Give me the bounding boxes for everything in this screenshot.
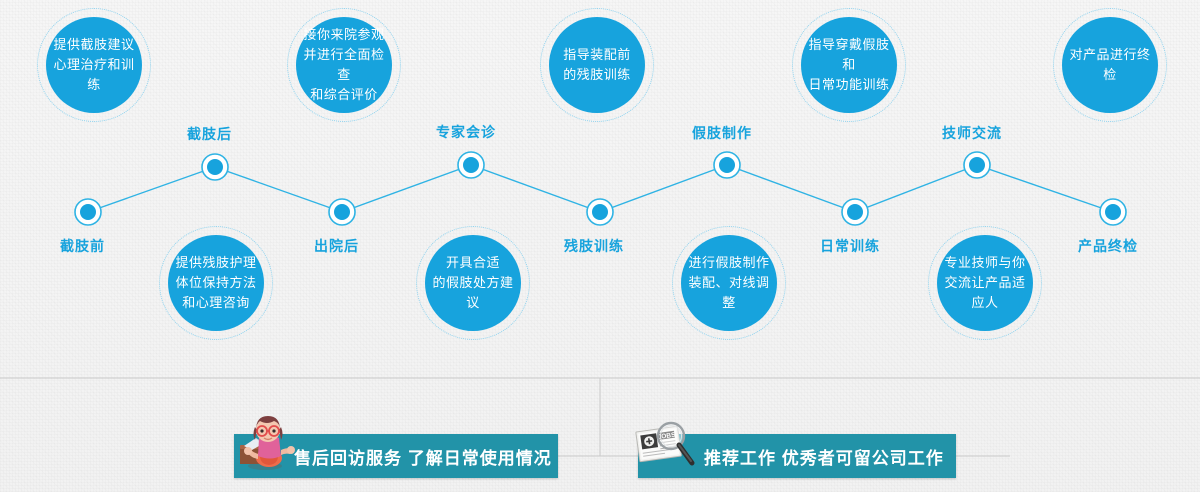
bubble-2[interactable]: 接你来院参观 并进行全面检查 和综合评价 [296, 17, 392, 113]
banner-after-sales-label: 售后回访服务 了解日常使用情况 [294, 444, 552, 469]
timeline-segment-7 [855, 165, 977, 212]
bubble-6[interactable]: 提供残肢护理 体位保持方法 和心理咨询 [168, 235, 264, 331]
timeline-node-8[interactable] [964, 152, 990, 178]
bubble-3-text: 指导装配前 的残肢训练 [557, 45, 637, 85]
node-label-node-7: 日常训练 [820, 236, 880, 256]
node-dot [1105, 204, 1121, 220]
timeline-node-6[interactable] [714, 152, 740, 178]
bubble-5[interactable]: 对产品进行终检 [1062, 17, 1158, 113]
node-dot [463, 157, 479, 173]
timeline-node-markers [75, 152, 1126, 225]
bubble-3[interactable]: 指导装配前 的残肢训练 [549, 17, 645, 113]
node-label-node-2: 截肢后 [187, 124, 232, 144]
node-dot [719, 157, 735, 173]
node-label-node-3: 出院后 [314, 236, 359, 256]
node-label-node-1: 截肢前 [60, 236, 105, 256]
timeline-segment-5 [600, 165, 727, 212]
timeline-node-1[interactable] [75, 199, 101, 225]
bubble-9-text: 专业技师与你 交流让产品适应人 [937, 253, 1033, 313]
bubble-8-text: 进行假肢制作 装配、对线调整 [681, 253, 777, 313]
bubble-1[interactable]: 提供截肢建议 心理治疗和训练 [46, 17, 142, 113]
node-label-node-8: 技师交流 [942, 123, 1002, 143]
node-label-node-4: 专家会诊 [436, 122, 496, 142]
jobs-newspaper-magnifier-icon: JOBS [634, 416, 698, 477]
bubble-4-text: 指导穿戴假肢和 日常功能训练 [801, 35, 897, 95]
node-dot [207, 159, 223, 175]
bubble-9[interactable]: 专业技师与你 交流让产品适应人 [937, 235, 1033, 331]
bubble-1-text: 提供截肢建议 心理治疗和训练 [46, 35, 142, 95]
timeline-segment-2 [215, 167, 342, 212]
timeline-node-2[interactable] [202, 154, 228, 180]
timeline-segment-4 [471, 165, 600, 212]
node-dot [847, 204, 863, 220]
bubble-4[interactable]: 指导穿戴假肢和 日常功能训练 [801, 17, 897, 113]
bubble-2-text: 接你来院参观 并进行全面检查 和综合评价 [296, 25, 392, 105]
timeline-node-9[interactable] [1100, 199, 1126, 225]
timeline-segment-1 [88, 167, 215, 212]
node-dot [80, 204, 96, 220]
node-label-node-5: 残肢训练 [564, 236, 624, 256]
woman-at-desk-icon [236, 410, 298, 477]
divider-lines [0, 378, 1200, 456]
timeline-node-4[interactable] [458, 152, 484, 178]
node-dot [592, 204, 608, 220]
bubble-8[interactable]: 进行假肢制作 装配、对线调整 [681, 235, 777, 331]
timeline-node-5[interactable] [587, 199, 613, 225]
banner-job-referral-label: 推荐工作 优秀者可留公司工作 [704, 444, 944, 469]
bubble-6-text: 提供残肢护理 体位保持方法 和心理咨询 [169, 253, 262, 313]
timeline-segment-3 [342, 165, 471, 212]
timeline-node-3[interactable] [329, 199, 355, 225]
timeline-segment-6 [727, 165, 855, 212]
timeline-node-7[interactable] [842, 199, 868, 225]
bubble-5-text: 对产品进行终检 [1062, 45, 1158, 85]
node-label-node-6: 假肢制作 [692, 123, 752, 143]
node-dot [969, 157, 985, 173]
timeline-segment-8 [977, 165, 1113, 212]
node-dot [334, 204, 350, 220]
bubble-7[interactable]: 开具合适 的假肢处方建议 [425, 235, 521, 331]
bubble-7-text: 开具合适 的假肢处方建议 [425, 253, 521, 313]
node-label-node-9: 产品终检 [1078, 236, 1138, 256]
